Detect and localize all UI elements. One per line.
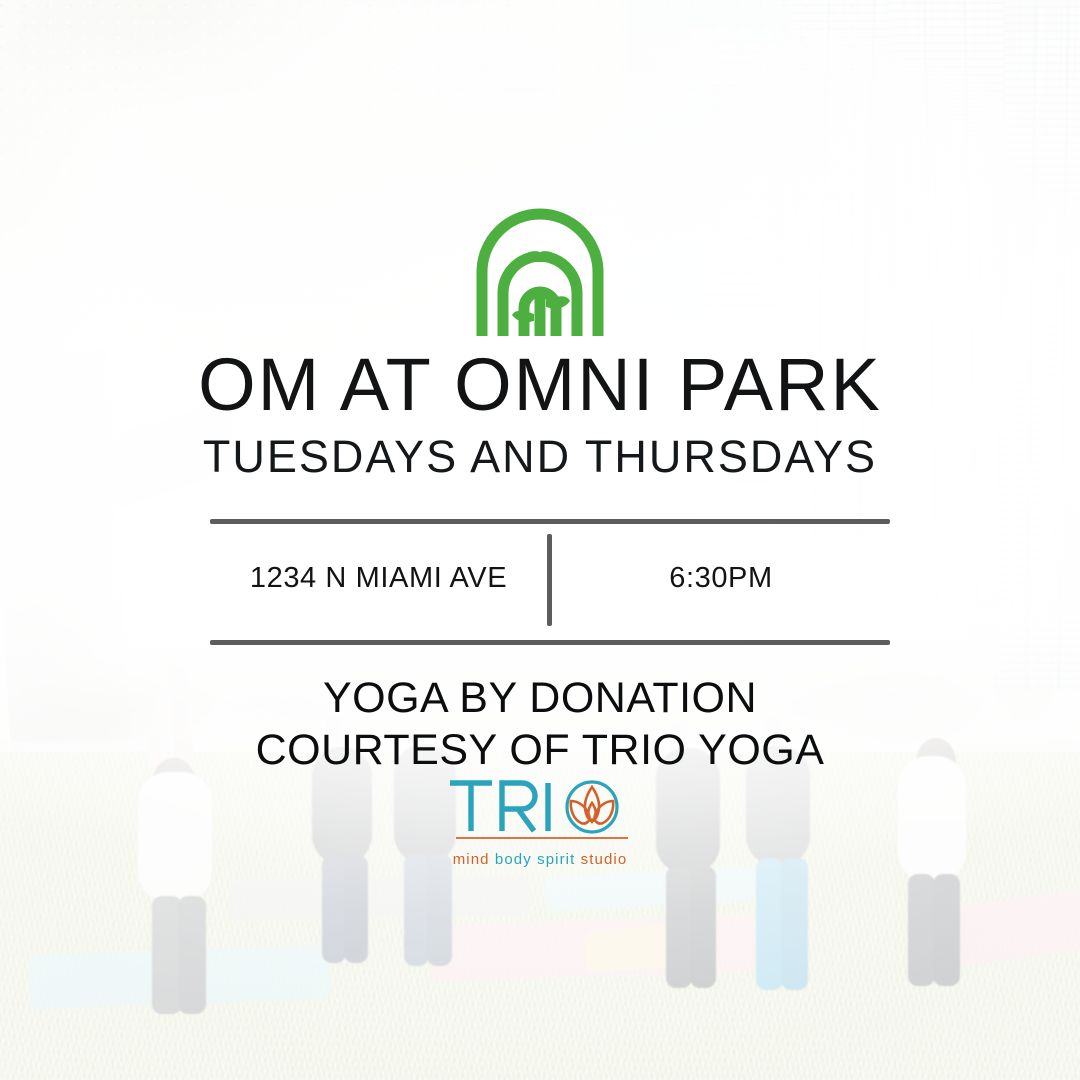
poster-canvas: OM AT OMNI PARK TUESDAYS AND THURSDAYS 1… (0, 0, 1080, 1080)
poster-content: OM AT OMNI PARK TUESDAYS AND THURSDAYS 1… (0, 0, 1080, 1080)
divider-top (210, 519, 890, 524)
trio-logo: mind body spirit studio (0, 775, 1080, 868)
donation-note: YOGA BY DONATION COURTESY OF TRIO YOGA (0, 672, 1080, 777)
omni-park-logo (0, 196, 1080, 336)
page-title: OM AT OMNI PARK (0, 348, 1080, 422)
lotus-flower-icon (571, 787, 613, 824)
omni-park-tree-icon (470, 196, 610, 336)
donation-line-2: COURTESY OF TRIO YOGA (0, 724, 1080, 776)
trio-tagline-mind: mind (453, 851, 490, 868)
donation-line-1: YOGA BY DONATION (0, 672, 1080, 724)
trio-tagline-studio: studio (581, 851, 628, 868)
event-time: 6:30PM (552, 562, 890, 595)
trio-tagline-body-spirit: body spirit (495, 851, 575, 868)
trio-o-circle (567, 782, 617, 832)
event-address: 1234 N MIAMI AVE (210, 562, 547, 595)
schedule-days: TUESDAYS AND THURSDAYS (0, 434, 1080, 479)
divider-bottom (210, 640, 890, 645)
trio-logo-graphic (440, 775, 640, 849)
trio-tagline: mind body spirit studio (453, 851, 628, 868)
